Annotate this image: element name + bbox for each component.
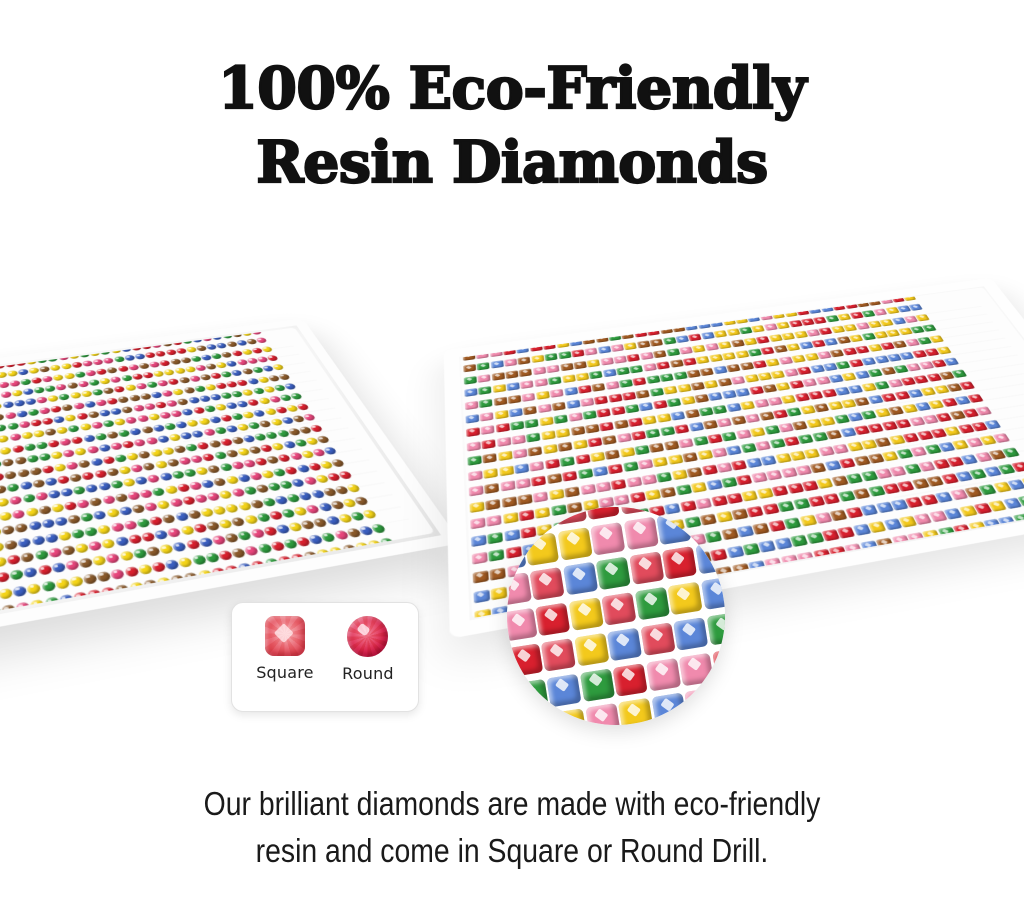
round-drill-bead [0, 460, 2, 469]
square-drill-bead [511, 434, 525, 444]
square-drill-bead [799, 515, 817, 527]
square-drill-bead [508, 644, 543, 677]
square-drill-bead [808, 496, 826, 508]
square-drill-bead [735, 388, 750, 397]
square-drill-bead [558, 442, 573, 452]
square-drill-bead [520, 380, 533, 389]
round-drill-bead [166, 458, 180, 467]
square-drill-bead [660, 487, 676, 498]
round-drill-bead [0, 424, 7, 432]
round-drill-bead [275, 524, 291, 534]
round-drill-bead [92, 389, 104, 396]
square-drill-bead [517, 494, 532, 506]
square-drill-bead [708, 392, 723, 401]
round-drill-bead [305, 504, 321, 514]
round-drill-bead [211, 567, 227, 579]
round-drill-bead [53, 416, 65, 424]
square-drill-bead [568, 598, 603, 631]
round-drill-bead [375, 554, 392, 565]
square-drill-bead [692, 345, 706, 353]
square-drill-bead [731, 460, 747, 471]
square-drill-bead [485, 499, 500, 511]
round-drill-bead [146, 546, 161, 557]
square-drill-bead [910, 447, 927, 457]
square-drill-bead [944, 426, 961, 436]
square-drill-bead [650, 339, 664, 347]
square-drill-bead [711, 495, 728, 507]
square-drill-bead [619, 379, 633, 388]
round-drill-bead [181, 408, 194, 416]
round-drill-bead [110, 376, 122, 383]
round-drill-bead [0, 541, 4, 552]
round-drill-bead [255, 484, 270, 493]
square-drill-bead [730, 306, 743, 313]
square-drill-bead [702, 464, 718, 475]
round-drill-bead [26, 358, 37, 365]
round-drill-bead [100, 348, 111, 355]
square-drill-bead [528, 333, 541, 341]
round-drill-bead [7, 370, 18, 377]
round-drill-bead [66, 382, 78, 389]
round-drill-bead [180, 525, 195, 535]
square-drill-bead [718, 308, 731, 315]
square-drill-bead [855, 346, 870, 354]
round-drill-bead [274, 495, 289, 505]
round-drill-bead [197, 417, 210, 425]
round-drill-bead [200, 507, 215, 517]
round-drill-bead [143, 579, 159, 591]
round-drill-bead [65, 344, 76, 350]
square-drill-bead [499, 465, 514, 476]
round-drill-bead [122, 440, 135, 448]
round-drill-bead [45, 346, 56, 353]
round-drill-bead [28, 521, 42, 531]
round-drill-bead [69, 575, 84, 587]
legend-item-round[interactable]: Round [342, 616, 394, 683]
square-drill-bead [825, 460, 842, 471]
round-drill-bead [0, 435, 9, 443]
round-drill-bead [242, 459, 256, 468]
square-drill-bead [667, 398, 682, 407]
round-drill-bead [54, 516, 68, 526]
round-drill-bead [117, 365, 129, 372]
square-drill-bead [636, 389, 650, 398]
square-drill-bead [747, 315, 761, 323]
square-drill-bead [694, 311, 707, 318]
zoom-detail-circle [507, 507, 725, 725]
square-drill-bead [598, 346, 611, 354]
square-drill-bead [722, 431, 738, 441]
square-drill-bead [596, 557, 631, 590]
square-drill-bead [737, 582, 756, 596]
square-drill-bead [516, 478, 531, 489]
square-drill-bead [491, 360, 504, 368]
round-drill-bead [196, 441, 210, 450]
round-drill-bead [191, 554, 207, 565]
round-drill-bead [102, 420, 115, 428]
square-drill-bead [754, 579, 773, 593]
round-drill-bead [106, 431, 119, 439]
round-drill-bead [11, 389, 23, 396]
round-drill-bead [25, 507, 39, 517]
square-drill-bead [721, 477, 738, 488]
round-drill-bead [171, 470, 185, 479]
square-drill-bead [883, 483, 901, 494]
round-drill-bead [84, 526, 98, 536]
square-drill-bead [764, 323, 778, 331]
square-drill-bead [693, 436, 709, 446]
round-drill-bead [296, 464, 311, 473]
square-drill-bead [891, 295, 905, 302]
bead-row [0, 431, 435, 542]
square-drill-bead [840, 428, 856, 438]
square-drill-bead [955, 471, 973, 482]
square-drill-bead [806, 531, 824, 543]
square-drill-bead [898, 515, 917, 527]
bead-row [0, 466, 435, 589]
square-drill-bead [504, 358, 517, 366]
bead-row [0, 420, 432, 528]
square-drill-bead [685, 409, 700, 419]
round-drill-bead [0, 556, 7, 567]
square-drill-bead [758, 540, 776, 553]
round-drill-bead [326, 472, 341, 481]
square-drill-bead [472, 570, 488, 584]
square-drill-bead [461, 378, 463, 387]
round-drill-bead [79, 423, 92, 431]
caption-line-1: Our brilliant diamonds are made with eco… [72, 780, 953, 827]
round-drill-bead [260, 470, 275, 479]
square-drill-bead [957, 424, 974, 434]
round-drill-bead [34, 549, 48, 560]
round-drill-bead [174, 367, 186, 374]
square-drill-bead [796, 308, 810, 315]
round-drill-bead [219, 463, 233, 472]
round-drill-bead [2, 352, 13, 359]
round-drill-bead [9, 433, 21, 441]
square-drill-bead [564, 387, 578, 396]
round-drill-bead [129, 582, 145, 594]
round-drill-bead [68, 425, 80, 433]
legend-item-square[interactable]: Square [256, 616, 314, 682]
round-drill-bead [92, 555, 107, 566]
round-drill-bead [102, 495, 116, 505]
round-drill-bead [29, 467, 42, 476]
square-drill-bead [672, 325, 685, 333]
square-drill-bead [564, 486, 580, 497]
square-drill-bead [896, 449, 913, 459]
square-drill-bead [802, 480, 819, 491]
square-drill-bead [742, 490, 759, 501]
round-drill-bead [256, 337, 268, 343]
round-drill-bead [47, 395, 59, 403]
square-drill-bead [461, 504, 468, 516]
round-drill-bead [311, 566, 328, 578]
round-drill-bead [303, 413, 317, 421]
square-drill-bead [462, 341, 474, 349]
square-drill-bead [628, 417, 643, 427]
round-drill-bead [243, 486, 258, 496]
square-drill-bead [653, 400, 668, 409]
round-drill-bead [217, 583, 233, 595]
square-drill-bead [471, 535, 487, 548]
round-drill-bead [159, 544, 174, 555]
round-drill-bead [251, 560, 267, 571]
square-drill-bead [505, 370, 518, 379]
square-drill-bead [704, 380, 719, 389]
square-drill-bead [914, 513, 933, 525]
round-drill-bead [55, 345, 66, 352]
square-drill-bead [836, 564, 855, 577]
square-drill-bead [685, 323, 699, 331]
square-drill-bead [757, 372, 772, 381]
round-drill-bead [0, 472, 5, 481]
round-drill-bead [330, 500, 346, 510]
round-drill-bead [178, 556, 194, 567]
round-drill-bead [75, 543, 90, 554]
square-drill-bead [671, 411, 686, 421]
square-drill-bead [531, 476, 546, 487]
round-drill-bead [298, 568, 315, 580]
square-drill-bead [937, 527, 956, 539]
round-drill-bead [68, 352, 79, 359]
round-drill-bead [124, 355, 136, 362]
round-drill-bead [147, 333, 158, 339]
square-drill-bead [903, 433, 920, 443]
square-drill-bead [539, 417, 553, 427]
square-drill-bead [918, 461, 936, 472]
square-drill-bead [503, 347, 516, 355]
round-drill-bead [168, 378, 180, 385]
round-drill-bead [5, 361, 16, 368]
round-drill-bead [27, 583, 42, 595]
round-drill-bead [165, 349, 177, 356]
square-drill-bead [478, 374, 491, 383]
square-drill-bead [722, 390, 737, 399]
square-drill-bead [793, 498, 810, 510]
square-drill-bead [673, 617, 708, 650]
square-drill-bead [726, 445, 742, 455]
square-drill-bead [748, 560, 766, 573]
square-drill-bead [482, 439, 496, 449]
round-drill-bead [16, 410, 28, 418]
square-drill-bead [541, 638, 576, 671]
round-drill-bead [13, 350, 24, 357]
square-drill-bead [706, 309, 719, 316]
square-drill-bead [784, 436, 800, 446]
square-drill-bead [882, 451, 899, 461]
round-drill-bead [19, 481, 32, 490]
round-drill-bead [156, 577, 172, 589]
round-drill-bead [28, 367, 39, 374]
square-drill-bead [853, 456, 870, 467]
round-drill-bead [277, 555, 293, 566]
round-drill-bead [207, 465, 221, 474]
round-drill-bead [124, 384, 136, 391]
round-drill-bead [106, 397, 118, 405]
square-drill-bead [461, 366, 462, 375]
round-drill-bead [338, 471, 353, 480]
round-drill-bead [35, 492, 48, 502]
bead-row [0, 454, 435, 573]
square-drill-bead [570, 426, 585, 436]
square-drill-bead [461, 573, 471, 587]
square-drill-bead [513, 449, 528, 459]
round-drill-bead [167, 527, 182, 538]
round-drill-bead [4, 470, 17, 479]
square-drill-bead [500, 481, 515, 492]
square-drill-bead [641, 474, 657, 485]
round-drill-bead [0, 498, 10, 508]
square-drill-bead [926, 476, 944, 487]
square-drill-bead [571, 349, 584, 357]
square-drill-bead [525, 419, 539, 429]
caption-line-2: resin and come in Square or Round Drill. [72, 827, 953, 874]
square-drill-bead [582, 337, 595, 345]
round-drill-bead [150, 448, 163, 457]
round-drill-bead [128, 534, 143, 545]
square-drill-bead [552, 709, 587, 725]
square-drill-bead [797, 552, 815, 565]
square-drill-bead [786, 343, 801, 351]
round-drill-bead [346, 527, 362, 538]
square-drill-bead [647, 328, 660, 336]
square-drill-bead [718, 341, 732, 349]
round-drill-bead [44, 596, 59, 608]
round-drill-gem-icon [347, 616, 388, 657]
square-drill-bead [723, 718, 725, 725]
round-drill-bead [20, 378, 31, 385]
square-drill-bead [631, 319, 644, 327]
square-drill-bead [461, 520, 469, 532]
round-drill-bead [267, 482, 282, 491]
square-drill-bead [676, 335, 690, 343]
square-drill-bead [988, 500, 1007, 512]
round-drill-bead [0, 362, 5, 369]
round-drill-bead [48, 613, 63, 626]
square-drill-bead [852, 561, 871, 574]
round-drill-bead [44, 533, 58, 544]
round-drill-bead [317, 502, 333, 512]
round-drill-bead [296, 403, 310, 411]
square-drill-bead [915, 550, 934, 563]
square-drill-bead [1008, 533, 1024, 546]
square-drill-bead [802, 378, 817, 387]
caption: Our brilliant diamonds are made with eco… [72, 780, 953, 874]
square-drill-bead [668, 454, 684, 465]
square-drill-bead [808, 306, 822, 313]
square-drill-bead [713, 366, 727, 375]
round-drill-bead [21, 432, 33, 440]
square-drill-bead [699, 407, 714, 416]
round-drill-bead [82, 360, 94, 367]
square-drill-bead [754, 398, 769, 407]
square-drill-bead [467, 441, 481, 451]
round-drill-bead [284, 571, 301, 583]
square-drill-bead [656, 511, 691, 544]
square-drill-bead [474, 609, 491, 618]
round-drill-bead [212, 505, 227, 515]
round-drill-bead [94, 433, 107, 441]
square-drill-bead [626, 476, 642, 487]
square-drill-bead [778, 356, 793, 364]
square-drill-bead [593, 466, 608, 477]
square-drill-bead [739, 362, 754, 370]
round-drill-bead [169, 358, 181, 365]
round-drill-bead [167, 331, 179, 337]
round-drill-bead [346, 483, 361, 492]
square-drill-bead [677, 383, 692, 392]
round-drill-bead [123, 520, 137, 530]
square-drill-bead [694, 394, 709, 403]
square-drill-bead [736, 475, 753, 486]
round-drill-bead [130, 344, 142, 350]
square-drill-bead [868, 558, 887, 571]
square-drill-bead [818, 327, 832, 335]
square-drill-bead [530, 344, 543, 352]
round-drill-bead [135, 383, 147, 390]
round-drill-bead [86, 341, 97, 347]
round-drill-bead [316, 549, 333, 560]
square-drill-bead [1002, 447, 1020, 457]
square-drill-bead [815, 512, 833, 524]
round-drill-bead [65, 414, 77, 422]
round-drill-bead [354, 542, 371, 553]
square-drill-bead [773, 345, 787, 353]
square-drill-bead [771, 370, 786, 379]
square-drill-bead [491, 372, 504, 381]
round-drill-bead [99, 409, 111, 417]
square-drill-bead [649, 442, 664, 452]
square-drill-bead [767, 301, 781, 308]
square-drill-bead [861, 439, 878, 449]
square-drill-bead [596, 481, 612, 492]
page-title: 100% Eco-Friendly Resin Diamonds [0, 52, 1024, 200]
square-drill-bead [759, 313, 773, 320]
square-drill-bead [775, 453, 791, 464]
square-drill-bead [980, 435, 998, 445]
square-drill-bead [585, 348, 598, 356]
round-drill-bead [272, 468, 287, 477]
round-drill-bead [1, 604, 16, 617]
square-drill-bead [510, 421, 524, 431]
round-drill-bead [157, 332, 168, 338]
round-drill-bead [61, 404, 73, 412]
square-drill-bead [853, 488, 871, 499]
square-drill-bead [826, 430, 842, 440]
square-drill-bead [618, 507, 653, 515]
square-drill-bead [779, 300, 793, 307]
square-drill-bead [552, 507, 587, 525]
square-drill-bead [843, 324, 857, 332]
bead-row [0, 442, 435, 557]
round-drill-bead [30, 599, 45, 611]
square-drill-bead [690, 381, 705, 390]
square-drill-bead [518, 507, 553, 531]
round-drill-bead [330, 458, 345, 467]
round-drill-bead [149, 515, 164, 525]
round-drill-bead [186, 419, 199, 427]
round-drill-bead [34, 348, 45, 355]
round-drill-bead [320, 532, 336, 543]
round-drill-bead [308, 534, 324, 545]
square-drill-bead [534, 378, 548, 387]
round-drill-bead [201, 479, 215, 488]
square-drill-bead [659, 326, 672, 334]
square-drill-bead [673, 371, 687, 380]
round-drill-bead [177, 398, 190, 406]
square-drill-bead [494, 410, 508, 420]
